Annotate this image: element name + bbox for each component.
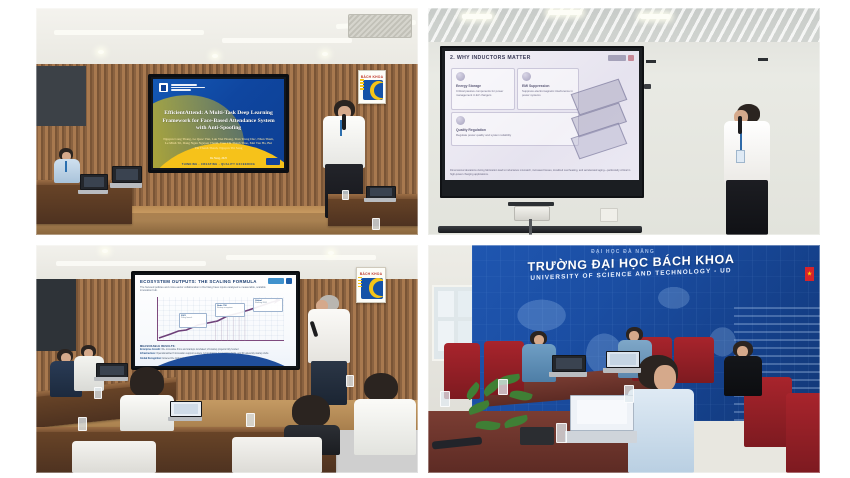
leaf bbox=[475, 419, 500, 432]
room-scene-bottom-right: ĐẠI HỌC ĐÀ NẴNG TRƯỜNG ĐẠI HỌC BÁCH KHOA… bbox=[428, 245, 820, 473]
ceiling-light bbox=[640, 14, 670, 19]
ceiling-light bbox=[462, 14, 492, 19]
laptop-icon[interactable] bbox=[112, 166, 140, 188]
collage-panel-top-right[interactable]: 2. WHY INDUCTORS MATTER Energy Storage C… bbox=[428, 8, 820, 235]
water-glass bbox=[624, 385, 634, 403]
head bbox=[130, 367, 164, 397]
collage-panel-bottom-left[interactable]: BÁCH KHOA ECOSYSTEM OUTPUTS: THE SCALING… bbox=[36, 245, 418, 473]
growth-chart: 2021 Policy launch Node 700 Startup ecos… bbox=[157, 297, 284, 341]
seated-participant bbox=[54, 148, 80, 182]
ceiling-light-strip bbox=[54, 30, 204, 35]
projector-stand bbox=[529, 219, 532, 235]
face bbox=[654, 365, 676, 391]
presenter bbox=[308, 295, 350, 405]
poster-title: BÁCH KHOA bbox=[359, 75, 385, 79]
slide-title: ECOSYSTEM OUTPUTS: THE SCALING FORMULA bbox=[140, 279, 257, 284]
poster-title: BÁCH KHOA bbox=[357, 272, 385, 276]
poster-emblem bbox=[361, 278, 383, 300]
water-glass bbox=[342, 190, 349, 200]
torso bbox=[54, 159, 80, 183]
downlight bbox=[322, 52, 328, 56]
ceiling-light-strip bbox=[222, 38, 352, 43]
head bbox=[292, 395, 330, 427]
card-heading: Quality Regulation bbox=[456, 128, 486, 132]
screen-bottom-bar bbox=[438, 226, 642, 233]
chair bbox=[72, 441, 156, 473]
chart-annotation: 2021 Policy launch bbox=[179, 313, 207, 328]
window-pane bbox=[438, 291, 454, 317]
university-mark-icon bbox=[159, 83, 168, 92]
ceiling-light-strip bbox=[226, 255, 376, 260]
wall-socket bbox=[600, 208, 618, 222]
wall-bracket bbox=[644, 84, 651, 89]
slide-title: EfficientAttend: A Multi-Task Deep Learn… bbox=[161, 110, 276, 133]
seated-participant bbox=[724, 341, 762, 395]
laptop-icon[interactable] bbox=[552, 355, 584, 377]
downlight bbox=[98, 50, 104, 54]
photo-collage: BÁCH KHOA EfficientAttend: A bbox=[0, 0, 850, 478]
torso bbox=[724, 356, 762, 396]
bach-khoa-poster: BÁCH KHOA bbox=[358, 70, 386, 104]
laptop-base bbox=[549, 372, 586, 377]
scaling-formula-slide: ECOSYSTEM OUTPUTS: THE SCALING FORMULA T… bbox=[135, 275, 296, 366]
water-glass bbox=[372, 218, 380, 230]
inductor-exploded-diagram bbox=[571, 69, 633, 155]
university-wordmark bbox=[171, 84, 205, 91]
downlight bbox=[102, 249, 108, 253]
slide-card-energy-storage: Energy Storage Critical passive componen… bbox=[451, 68, 515, 110]
laptop-icon[interactable] bbox=[366, 186, 394, 202]
laptop-base bbox=[110, 183, 142, 188]
water-glass bbox=[498, 379, 508, 395]
laptop-screen bbox=[606, 351, 640, 368]
slide-footer: THINKING · CREATING · QUALITY EXCEEDING bbox=[153, 163, 284, 166]
water-glass bbox=[346, 375, 354, 387]
chart-annotation: Node 700 Startup ecosystem bbox=[215, 303, 245, 317]
laptop-icon[interactable] bbox=[570, 395, 632, 443]
presentation-display[interactable]: EfficientAttend: A Multi-Task Deep Learn… bbox=[148, 74, 289, 173]
presentation-display[interactable]: ECOSYSTEM OUTPUTS: THE SCALING FORMULA T… bbox=[131, 271, 300, 370]
laptop-icon[interactable] bbox=[606, 351, 638, 373]
emblem-bars bbox=[360, 79, 364, 90]
bach-khoa-poster: BÁCH KHOA bbox=[356, 267, 386, 303]
slide-title: 2. WHY INDUCTORS MATTER bbox=[450, 55, 531, 61]
glass-partition bbox=[36, 66, 86, 126]
inductor-slide: 2. WHY INDUCTORS MATTER Energy Storage C… bbox=[445, 51, 639, 180]
slide-card-emi-suppression: EMI Suppression Suppress electromagnetic… bbox=[517, 68, 579, 110]
slide-logo bbox=[159, 83, 205, 92]
poster-emblem bbox=[363, 80, 383, 101]
slide-logo bbox=[268, 278, 292, 284]
ceiling-light-strip bbox=[56, 261, 206, 266]
leaf bbox=[464, 382, 482, 401]
slide-logo bbox=[608, 55, 634, 61]
water-glass bbox=[94, 387, 102, 399]
wall-fixture bbox=[758, 58, 768, 61]
logo-mark-icon bbox=[286, 278, 292, 284]
projector-platform bbox=[508, 202, 554, 206]
wall-fixture bbox=[646, 60, 656, 63]
slide-place-date: Da Nang, 2025 bbox=[153, 157, 284, 160]
result-label: Infrastructure: bbox=[140, 353, 156, 355]
chart-annotation: Global Ranking 2024 bbox=[253, 298, 283, 312]
lanyard bbox=[65, 161, 67, 172]
laptop-screen bbox=[552, 355, 586, 372]
leaf bbox=[509, 388, 533, 403]
result-label: Enterprise Growth: bbox=[140, 349, 161, 351]
room-scene-bottom-left: BÁCH KHOA ECOSYSTEM OUTPUTS: THE SCALING… bbox=[36, 245, 418, 473]
laptop-screen bbox=[366, 186, 396, 199]
audience-member-foreground bbox=[120, 367, 174, 429]
trousers bbox=[726, 180, 768, 235]
water-glass bbox=[78, 417, 87, 431]
laptop-base bbox=[565, 431, 637, 443]
shirt bbox=[724, 121, 770, 183]
id-badge bbox=[736, 150, 745, 163]
projection-screen[interactable]: 2. WHY INDUCTORS MATTER Energy Storage C… bbox=[440, 46, 644, 198]
laptop-base bbox=[364, 198, 396, 202]
emblem-cutout bbox=[373, 281, 383, 297]
audience-member-foreground bbox=[354, 373, 414, 453]
laptop-screen bbox=[80, 174, 108, 190]
water-glass bbox=[556, 423, 567, 443]
glass-partition bbox=[36, 279, 76, 351]
slide-note: Dimensional deviations during fabricatio… bbox=[450, 169, 634, 176]
card-body: Regulate power quality and system reliab… bbox=[456, 134, 575, 138]
annotation-text: Policy launch bbox=[181, 317, 205, 319]
annotation-text: Startup ecosystem bbox=[217, 307, 243, 309]
laptop-base bbox=[603, 368, 640, 373]
quality-icon bbox=[456, 116, 465, 125]
laptop-icon[interactable] bbox=[80, 174, 106, 194]
room-scene-top-right: 2. WHY INDUCTORS MATTER Energy Storage C… bbox=[428, 8, 820, 235]
slide-card-quality-regulation: Quality Regulation Regulate power qualit… bbox=[451, 112, 579, 146]
energy-icon bbox=[456, 72, 465, 81]
emi-icon bbox=[522, 72, 531, 81]
collage-panel-bottom-right[interactable]: ĐẠI HỌC ĐÀ NẴNG TRƯỜNG ĐẠI HỌC BÁCH KHOA… bbox=[428, 245, 820, 473]
annotation-text: Ranking 2024 bbox=[255, 302, 281, 304]
torso bbox=[120, 395, 174, 431]
head bbox=[364, 373, 398, 401]
result-label: Global Recognition: bbox=[140, 358, 162, 360]
torso bbox=[628, 389, 694, 473]
chair bbox=[786, 393, 820, 473]
microphone-icon bbox=[738, 116, 742, 134]
ceiling-light bbox=[548, 10, 582, 15]
card-heading: Energy Storage bbox=[456, 84, 481, 88]
card-body: Suppress electromagnetic interference in… bbox=[522, 90, 575, 97]
water-glass bbox=[246, 413, 255, 427]
collage-panel-top-left[interactable]: BÁCH KHOA EfficientAttend: A bbox=[36, 8, 418, 235]
downlight bbox=[328, 251, 334, 255]
downlight bbox=[212, 54, 218, 58]
slide-authors: Nguyen Cong Thang, Le Quoc Viet, Luu Vie… bbox=[163, 137, 274, 150]
logo-wordmark bbox=[608, 55, 626, 61]
microphone-icon bbox=[342, 114, 346, 130]
laptop-screen bbox=[170, 401, 202, 417]
result-text: 60+ innovative firms and startups incuba… bbox=[161, 349, 238, 351]
laptop-base bbox=[168, 417, 203, 421]
conference-microphone[interactable] bbox=[520, 427, 554, 445]
card-heading: EMI Suppression bbox=[522, 84, 550, 88]
slide-footer-logo bbox=[266, 158, 280, 165]
presenter bbox=[724, 104, 770, 235]
title-slide: EfficientAttend: A Multi-Task Deep Learn… bbox=[153, 79, 284, 168]
result-item: Enterprise Growth: 60+ innovative firms … bbox=[140, 349, 291, 352]
water-glass bbox=[440, 391, 450, 407]
projector-icon bbox=[514, 206, 550, 221]
leaf bbox=[467, 400, 491, 415]
emblem-bars bbox=[358, 277, 362, 288]
slide-subtitle: The focused policies and cross-sector co… bbox=[140, 286, 268, 293]
air-conditioner-vent bbox=[348, 14, 412, 38]
torso bbox=[354, 399, 416, 455]
logo-mark-icon bbox=[628, 55, 634, 61]
room-scene-top-left: BÁCH KHOA EfficientAttend: A bbox=[36, 8, 418, 235]
laptop-icon[interactable] bbox=[170, 401, 200, 421]
laptop-base bbox=[78, 190, 108, 194]
results-heading: MEASURABLE RESULTS: bbox=[140, 345, 291, 348]
chair bbox=[232, 437, 322, 473]
logo-wordmark bbox=[268, 278, 284, 284]
laptop-screen bbox=[112, 166, 142, 183]
card-body: Critical passive components for power ma… bbox=[456, 90, 511, 97]
flag-icon bbox=[805, 267, 814, 281]
emblem-cutout bbox=[374, 83, 383, 98]
